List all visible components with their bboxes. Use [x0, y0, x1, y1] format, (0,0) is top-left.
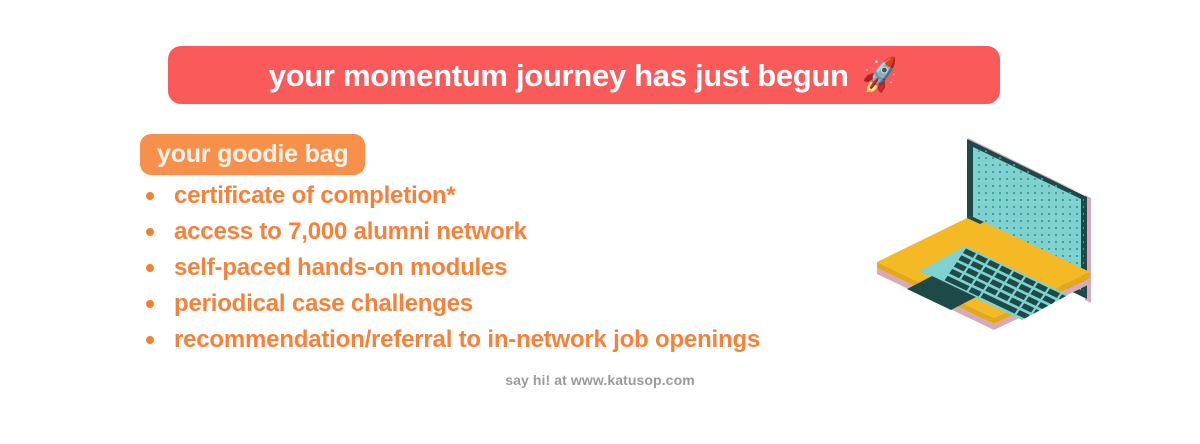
bullet-dot-icon [146, 300, 154, 308]
header-banner: your momentum journey has just begun 🚀 [168, 46, 1000, 104]
goodie-bag-badge: your goodie bag [140, 134, 365, 175]
list-item: periodical case challenges [142, 286, 760, 322]
bullet-dot-icon [146, 228, 154, 236]
bullet-dot-icon [146, 192, 154, 200]
poster-canvas: your momentum journey has just begun 🚀 y… [0, 0, 1200, 444]
bullet-dot-icon [146, 264, 154, 272]
list-item-label: recommendation/referral to in-network jo… [174, 328, 760, 352]
list-item: access to 7,000 alumni network [142, 214, 760, 250]
list-item: self-paced hands-on modules [142, 250, 760, 286]
list-item-label: certificate of completion* [174, 184, 456, 208]
goodie-bag-label: your goodie bag [157, 142, 348, 167]
list-item: certificate of completion* [142, 178, 760, 214]
laptop-icon [872, 128, 1104, 354]
footer-contact-note: say hi! at www.katusop.com [0, 372, 1200, 388]
bullet-dot-icon [146, 336, 154, 344]
benefits-list: certificate of completion* access to 7,0… [142, 178, 760, 358]
laptop-illustration [872, 128, 1104, 354]
list-item-label: periodical case challenges [174, 292, 473, 316]
list-item-label: access to 7,000 alumni network [174, 220, 527, 244]
rocket-icon: 🚀 [859, 57, 902, 93]
list-item: recommendation/referral to in-network jo… [142, 322, 760, 358]
page-title: your momentum journey has just begun [269, 60, 849, 91]
list-item-label: self-paced hands-on modules [174, 256, 507, 280]
